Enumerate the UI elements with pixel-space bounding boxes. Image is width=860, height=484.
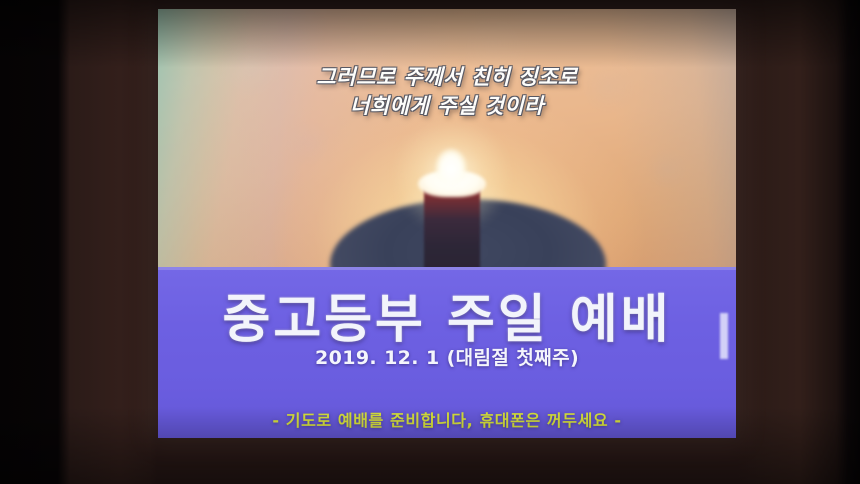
projection-screen: 그러므로 주께서 친히 징조로 너희에게 주실 것이라 중고등부 주일 예배 2…	[158, 9, 736, 438]
service-date: 2019. 12. 1 (대림절 첫째주)	[158, 343, 736, 370]
slide-photo-area: 그러므로 주께서 친히 징조로 너희에게 주실 것이라	[158, 9, 736, 267]
room-background: 그러므로 주께서 친히 징조로 너희에게 주실 것이라 중고등부 주일 예배 2…	[0, 0, 860, 484]
verse-line-1: 그러므로 주께서 친히 징조로	[158, 63, 736, 92]
verse-line-2: 너희에게 주실 것이라	[158, 92, 736, 121]
bible-verse-text: 그러므로 주께서 친히 징조로 너희에게 주실 것이라	[158, 63, 736, 120]
notice-text: - 기도로 예배를 준비합니다, 휴대폰은 꺼두세요 -	[158, 407, 736, 431]
page-title: 중고등부 주일 예배	[158, 277, 736, 352]
slide-title-banner: 중고등부 주일 예배 2019. 12. 1 (대림절 첫째주) - 기도로 예…	[158, 267, 736, 438]
candle-flame-icon	[436, 149, 466, 185]
